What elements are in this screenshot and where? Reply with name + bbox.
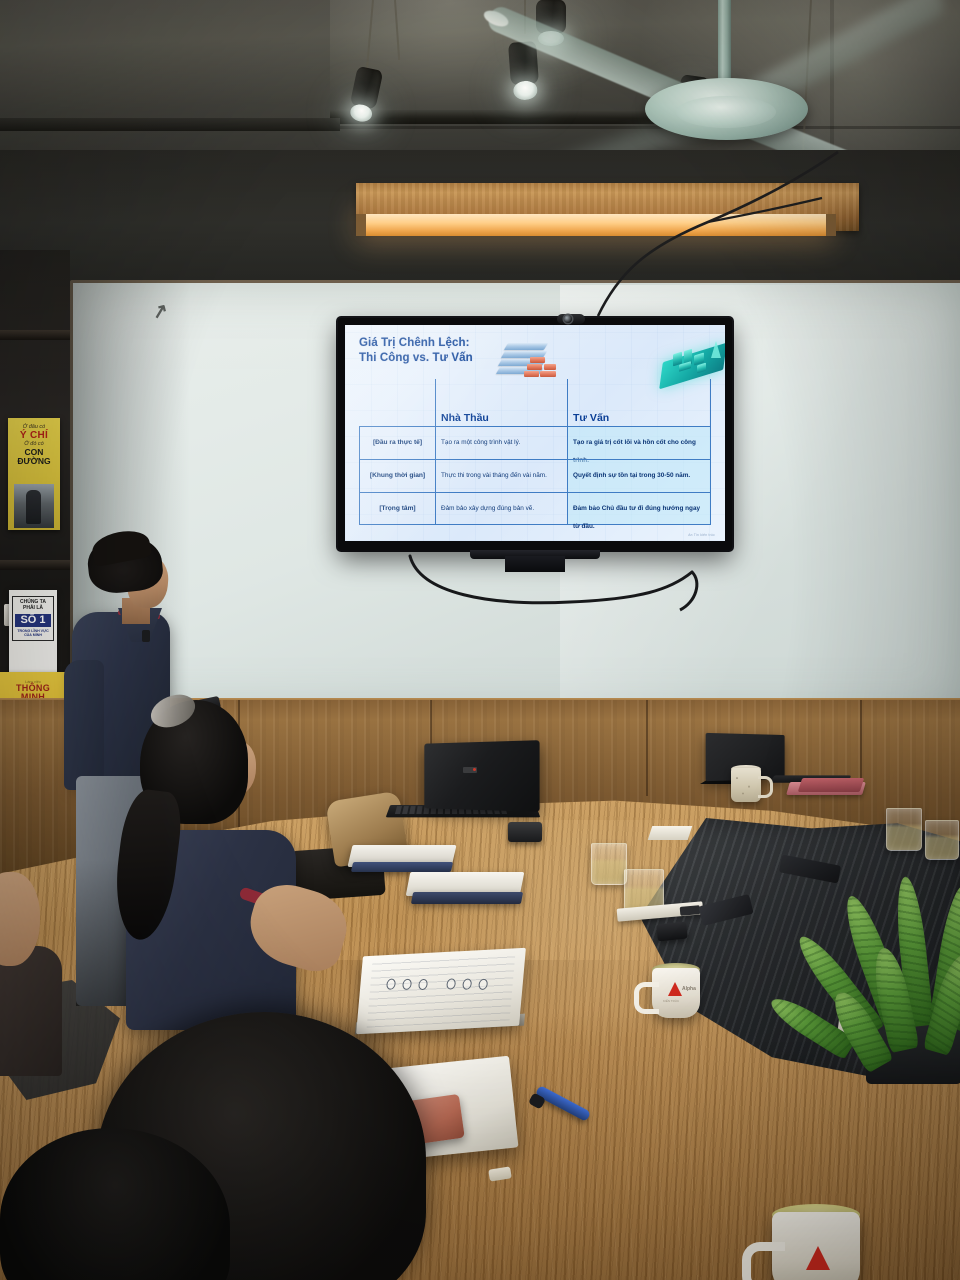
laptop-lid xyxy=(424,740,539,812)
header-cell-blank xyxy=(359,379,435,426)
poster-1-photo xyxy=(14,484,54,528)
brand-logo-subtext: KIẾN TRÚC xyxy=(663,999,679,1003)
header-cell-consultant: Tư Vấn xyxy=(567,379,711,426)
poster-2-line-4: TRONG LĨNH VỰC CỦA MÌNH xyxy=(15,629,51,638)
row-label-cell: [Đầu ra thực tế] xyxy=(359,426,435,459)
row-contractor-cell: Thực thi trong vài tháng đến vài năm. xyxy=(435,459,567,492)
thinkpad-logo-icon xyxy=(463,767,477,773)
ring-binder xyxy=(356,948,526,1034)
ceiling-beam-left xyxy=(0,118,340,131)
poster-2-line-2: PHẢI LÀ xyxy=(15,606,51,612)
power-adapter xyxy=(508,822,542,842)
panel-seam xyxy=(646,700,648,796)
steel-beams-bricks-icon xyxy=(500,339,562,379)
row-consultant-cell: Tạo ra giá trị cốt lõi và hồn cốt cho cô… xyxy=(567,426,711,459)
meeting-room-photo: ↗ Ở đâu có Ý CHÍ Ở đó có CON ĐƯỜNG CHÚNG… xyxy=(0,0,960,1280)
table-row: [Đầu ra thực tế] Tạo ra một công trình v… xyxy=(359,426,711,459)
foreground-mug-handle xyxy=(742,1242,785,1280)
table-header-row: Nhà Thầu Tư Vấn xyxy=(359,379,711,426)
speckled-mug-handle xyxy=(758,776,773,798)
row-consultant-cell: Đảm bảo Chủ đầu tư đi đúng hướng ngay từ… xyxy=(567,492,711,525)
tea-glass xyxy=(886,808,922,851)
row-label-cell: [Trọng tâm] xyxy=(359,492,435,525)
brand-logo-text: Alpha xyxy=(682,986,696,992)
slide-watermark: An Tin kiến trúc xyxy=(688,533,715,537)
tea-glass xyxy=(925,820,959,860)
poster-2-box: CHÚNG TA PHẢI LÀ SỐ 1 TRONG LĨNH VỰC CỦA… xyxy=(12,596,54,641)
webcam-lens-icon xyxy=(564,315,572,323)
tea-glass xyxy=(591,843,627,885)
ceiling-cable xyxy=(590,150,890,320)
notebook-stack-cover xyxy=(351,862,453,872)
table-row: [Khung thời gian] Thực thi trong vài thá… xyxy=(359,459,711,492)
track-light-lens xyxy=(512,81,538,101)
row-contractor-cell: Đảm bảo xây dựng đúng bản vẽ. xyxy=(435,492,567,525)
tv-cable xyxy=(340,548,740,638)
table-row: [Trọng tâm] Đảm bảo xây dựng đúng bản vẽ… xyxy=(359,492,711,525)
willpower-poster: Ở đâu có Ý CHÍ Ở đó có CON ĐƯỜNG xyxy=(8,418,60,530)
row-contractor-cell: Tạo ra một công trình vật lý. xyxy=(435,426,567,459)
track-light-2 xyxy=(508,41,540,101)
presentation-slide: Giá Trị Chênh Lệch: Thi Công vs. Tư Vấn xyxy=(345,325,725,541)
panel-seam xyxy=(860,700,862,790)
lapel-microphone xyxy=(142,630,150,642)
wireless-microphone xyxy=(656,921,688,941)
binder-ruled-lines xyxy=(367,954,516,1027)
shelf-rail-2 xyxy=(0,560,70,570)
row-consultant-cell: Quyết định sự tồn tại trong 30-50 năm. xyxy=(567,459,711,492)
poster-2-number: SỐ 1 xyxy=(15,614,51,627)
tv-screen: Giá Trị Chênh Lệch: Thi Công vs. Tư Vấn xyxy=(345,325,725,541)
3d-city-model-icon xyxy=(657,333,725,383)
header-cell-contractor: Nhà Thầu xyxy=(435,379,567,426)
red-pouch xyxy=(798,778,865,792)
poster-1-line-4: CON ĐƯỜNG xyxy=(12,448,56,467)
ceiling-fan-hub-inner xyxy=(676,96,776,128)
microphone-holder-button xyxy=(680,905,701,916)
row-label-cell: [Khung thời gian] xyxy=(359,459,435,492)
foreground-brand-logo-icon xyxy=(806,1246,830,1270)
speckled-mug xyxy=(731,768,761,802)
brand-logo-icon xyxy=(668,982,682,996)
presenter-arm xyxy=(64,660,104,790)
branded-mug-handle xyxy=(634,982,659,1014)
shelf-rail-1 xyxy=(0,330,70,340)
notebook-stack-cover xyxy=(411,892,523,904)
paper-slip xyxy=(648,826,693,840)
number-one-poster: CHÚNG TA PHẢI LÀ SỐ 1 TRONG LĨNH VỰC CỦA… xyxy=(9,590,57,680)
poster-1-line-2: Ý CHÍ xyxy=(12,431,56,442)
light-fixture-cap-left xyxy=(356,214,366,236)
slide-comparison-table: Nhà Thầu Tư Vấn [Đầu ra thực tế] Tạo ra … xyxy=(359,379,711,527)
